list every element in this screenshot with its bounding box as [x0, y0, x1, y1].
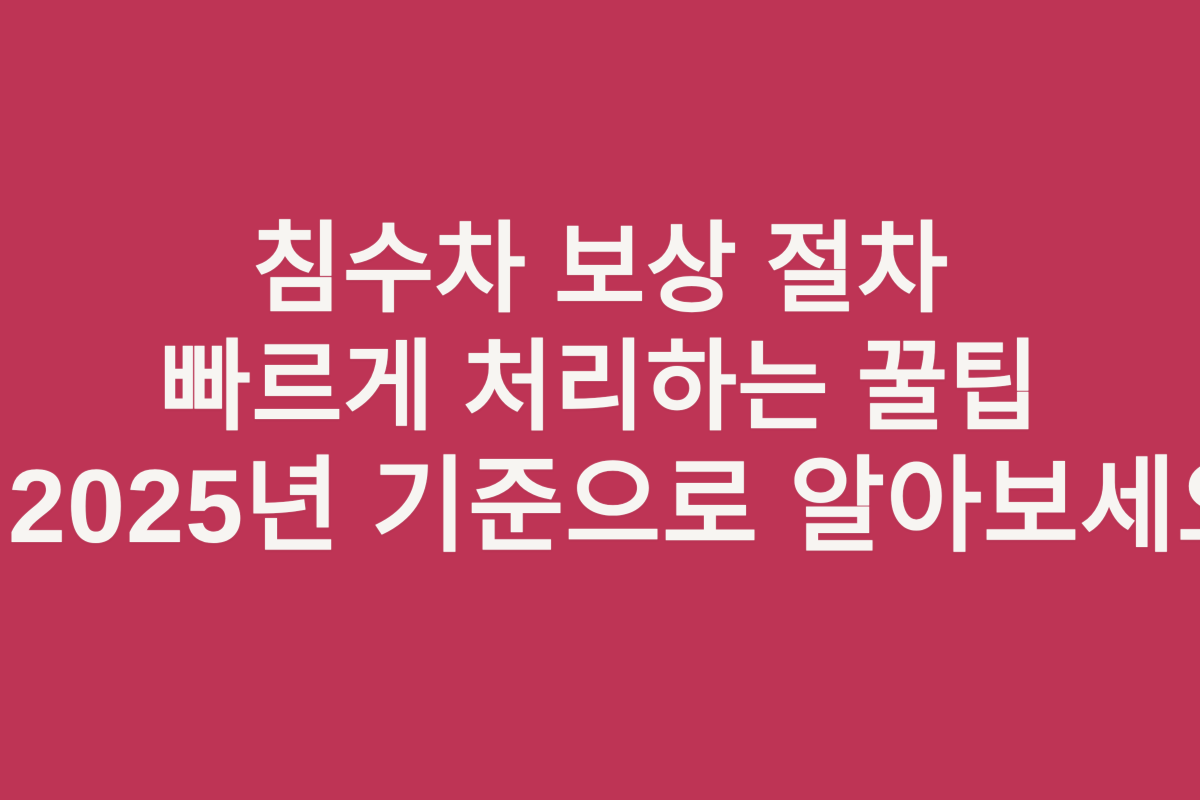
headline-line-3: 2025년 기준으로 알아보세요 — [8, 446, 1192, 570]
thumbnail-canvas: 침수차 보상 절차 빠르게 처리하는 꿀팁 2025년 기준으로 알아보세요 — [0, 0, 1200, 800]
headline-line-2: 빠르게 처리하는 꿀팁 — [8, 328, 1192, 446]
headline-block: 침수차 보상 절차 빠르게 처리하는 꿀팁 2025년 기준으로 알아보세요 — [0, 210, 1200, 569]
headline-line-1: 침수차 보상 절차 — [8, 210, 1192, 328]
